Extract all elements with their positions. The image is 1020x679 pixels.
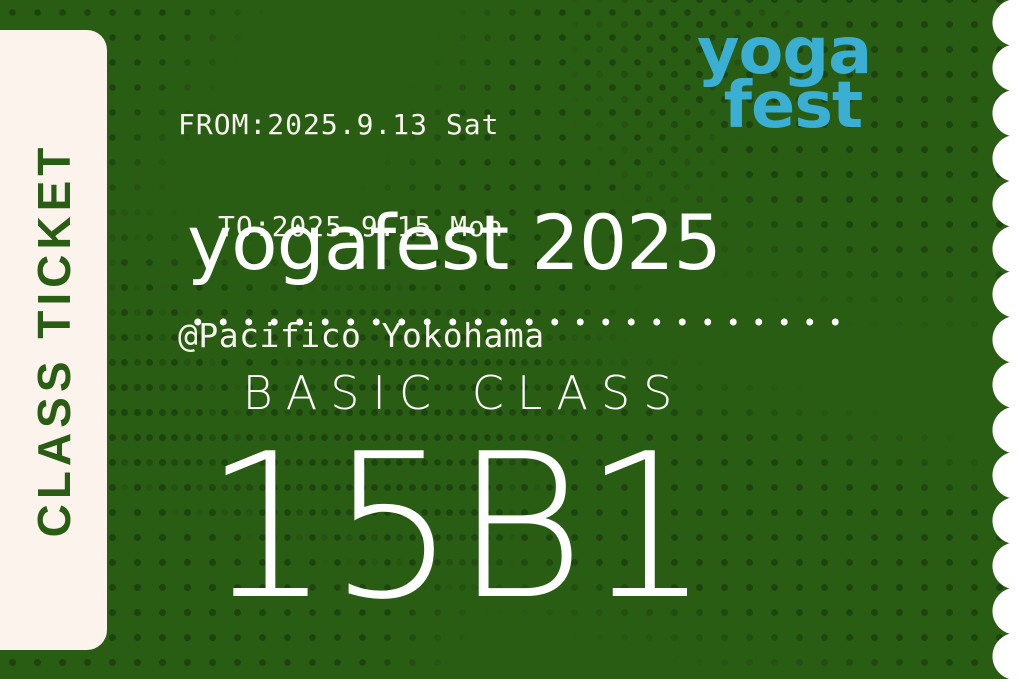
yogafest-brand-logo: yoga fest [697, 25, 859, 133]
brand-logo-line-fest: fest [697, 79, 862, 133]
ticket-type-label: CLASS TICKET [27, 143, 81, 538]
event-title: yogafest 2025 [0, 198, 1020, 287]
dotted-divider [185, 318, 849, 326]
ticket-stub: CLASS TICKET [0, 30, 107, 650]
seat-code: 15B1 [0, 428, 1020, 628]
event-date-from: FROM:2025.9.13 Sat [178, 108, 545, 142]
class-ticket: FROM:2025.9.13 Sat TO:2025.9.15 Mon @Pac… [0, 0, 1020, 679]
